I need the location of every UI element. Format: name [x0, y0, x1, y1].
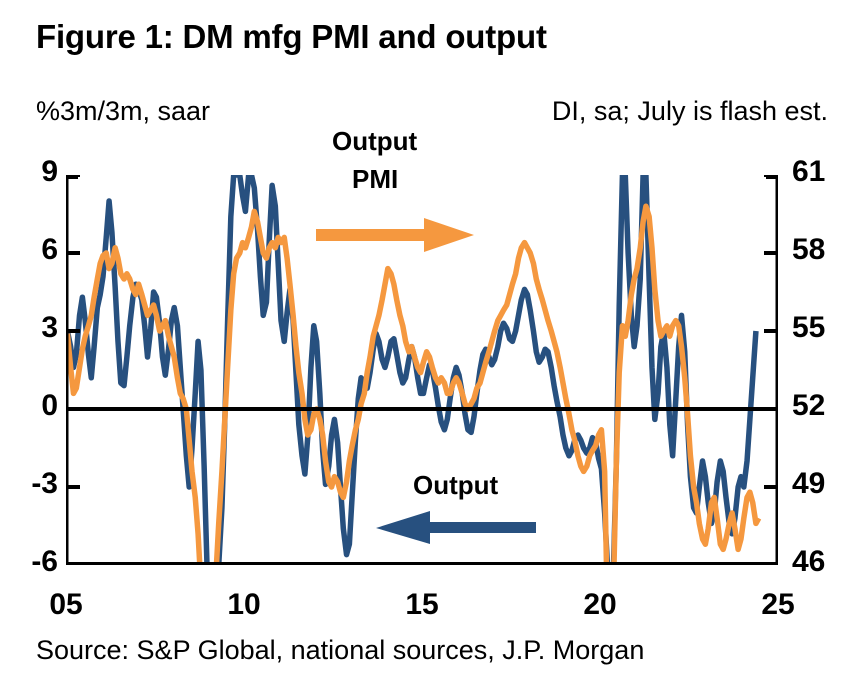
- x-axis-label: 15: [392, 588, 452, 622]
- plot-area: [66, 175, 778, 565]
- x-axis-label: 25: [748, 588, 808, 622]
- x-axis-label: 05: [36, 588, 96, 622]
- left-axis-unit-label: %3m/3m, saar: [36, 96, 210, 127]
- chart-figure: Figure 1: DM mfg PMI and output %3m/3m, …: [0, 0, 852, 689]
- y-axis-left-label: 3: [8, 311, 58, 345]
- y-axis-right-label: 58: [792, 233, 852, 267]
- y-axis-right-label: 52: [792, 389, 852, 423]
- y-axis-right-label: 55: [792, 311, 852, 345]
- source-note: Source: S&P Global, national sources, J.…: [36, 635, 644, 666]
- x-axis-label: 20: [570, 588, 630, 622]
- y-axis-left-label: 6: [8, 233, 58, 267]
- chart-canvas: [66, 175, 778, 565]
- y-axis-left-label: 9: [8, 155, 58, 189]
- y-axis-right-label: 46: [792, 545, 852, 579]
- y-axis-left-label: -6: [8, 545, 58, 579]
- right-axis-unit-label: DI, sa; July is flash est.: [552, 96, 828, 127]
- y-axis-right-label: 49: [792, 467, 852, 501]
- page-title: Figure 1: DM mfg PMI and output: [36, 18, 547, 56]
- legend-output-pmi-line1: Output: [332, 126, 417, 157]
- y-axis-left-label: 0: [8, 389, 58, 423]
- y-axis-left-label: -3: [8, 467, 58, 501]
- y-axis-right-label: 61: [792, 155, 852, 189]
- x-axis-label: 10: [214, 588, 274, 622]
